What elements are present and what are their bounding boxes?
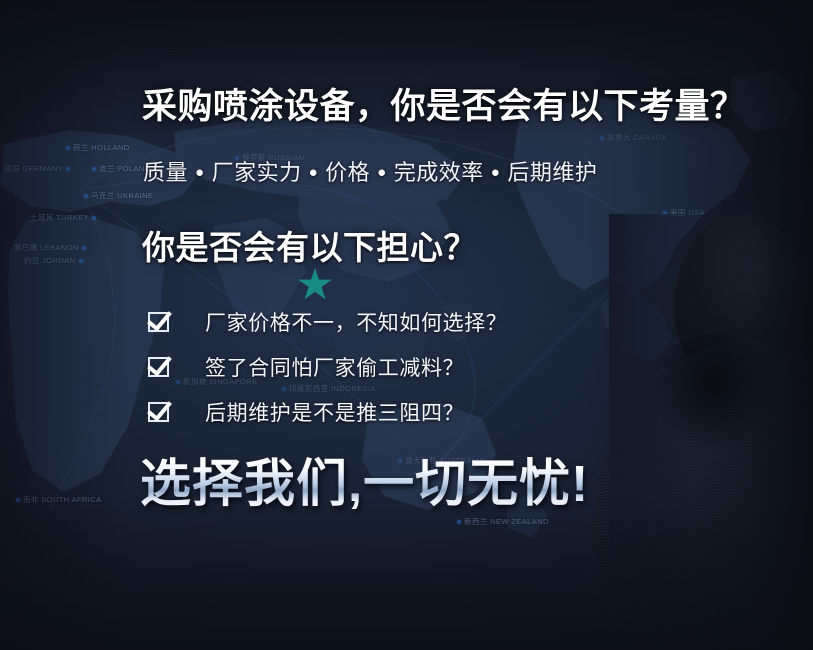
list-item-label: 签了合同怕厂家偷工减料？ (205, 352, 464, 382)
feature-item: 价格 (325, 160, 370, 185)
banner-content: 采购喷涂设备，你是否会有以下考量？ 质量●厂家实力●价格●完成效率●后期维护 你… (0, 0, 813, 650)
bullet-separator-icon: ● (377, 164, 387, 182)
feature-item: 后期维护 (507, 160, 597, 185)
checkbox-checked-icon (148, 312, 169, 332)
list-item: 签了合同怕厂家偷工减料？ (148, 347, 507, 387)
concerns-checklist: 厂家价格不一，不知如何选择？签了合同怕厂家偷工减料？后期维护是不是推三阻四？ (148, 302, 507, 437)
feature-list: 质量●厂家实力●价格●完成效率●后期维护 (143, 160, 597, 186)
bullet-separator-icon: ● (491, 164, 501, 182)
list-item-label: 后期维护是不是推三阻四？ (205, 397, 464, 427)
bullet-separator-icon: ● (195, 164, 205, 182)
page-title: 采购喷涂设备，你是否会有以下考量？ (142, 88, 746, 127)
checkbox-checked-icon (148, 357, 169, 377)
feature-item: 完成效率 (394, 160, 484, 185)
bullet-separator-icon: ● (309, 164, 319, 182)
banner-root: 荷兰 HOLLAND德国 GERMANY波兰 POLAND乌克兰 UKRAINE… (0, 0, 813, 650)
feature-item: 质量 (143, 160, 188, 185)
feature-item: 厂家实力 (212, 160, 302, 185)
list-item-label: 厂家价格不一，不知如何选择？ (205, 307, 507, 337)
list-item: 厂家价格不一，不知如何选择？ (148, 302, 507, 342)
list-item: 后期维护是不是推三阻四？ (148, 392, 507, 432)
slogan-text: 选择我们,一切无忧! (140, 455, 589, 514)
checkbox-checked-icon (148, 402, 169, 422)
section-title-concerns: 你是否会有以下担心？ (142, 230, 477, 266)
